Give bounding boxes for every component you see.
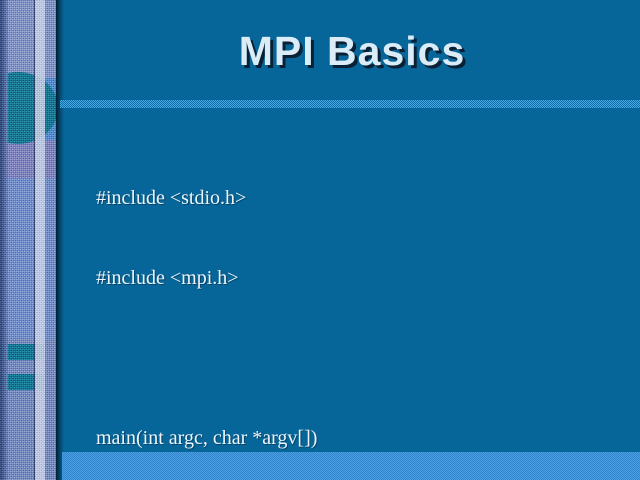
presentation-slide: MPI Basics #include <stdio.h> #include <…: [0, 0, 640, 480]
title-divider: [60, 100, 640, 108]
sidebar-pale-column: [34, 0, 45, 480]
code-line: #include <mpi.h>: [96, 265, 636, 292]
sidebar-left-strip: [0, 0, 8, 480]
code-block: #include <stdio.h> #include <mpi.h> main…: [96, 132, 636, 480]
sidebar-edge-shadow: [56, 0, 64, 480]
sidebar-band: [0, 0, 56, 78]
sidebar-band: [0, 178, 56, 338]
code-line: main(int argc, char *argv[]): [96, 425, 636, 452]
sidebar-band: [0, 140, 56, 178]
code-line: #include <stdio.h>: [96, 185, 636, 212]
bottom-accent-band: [62, 452, 640, 480]
code-line-blank: [96, 345, 636, 372]
sidebar-ornament: [0, 0, 56, 480]
page-title: MPI Basics: [64, 28, 640, 75]
